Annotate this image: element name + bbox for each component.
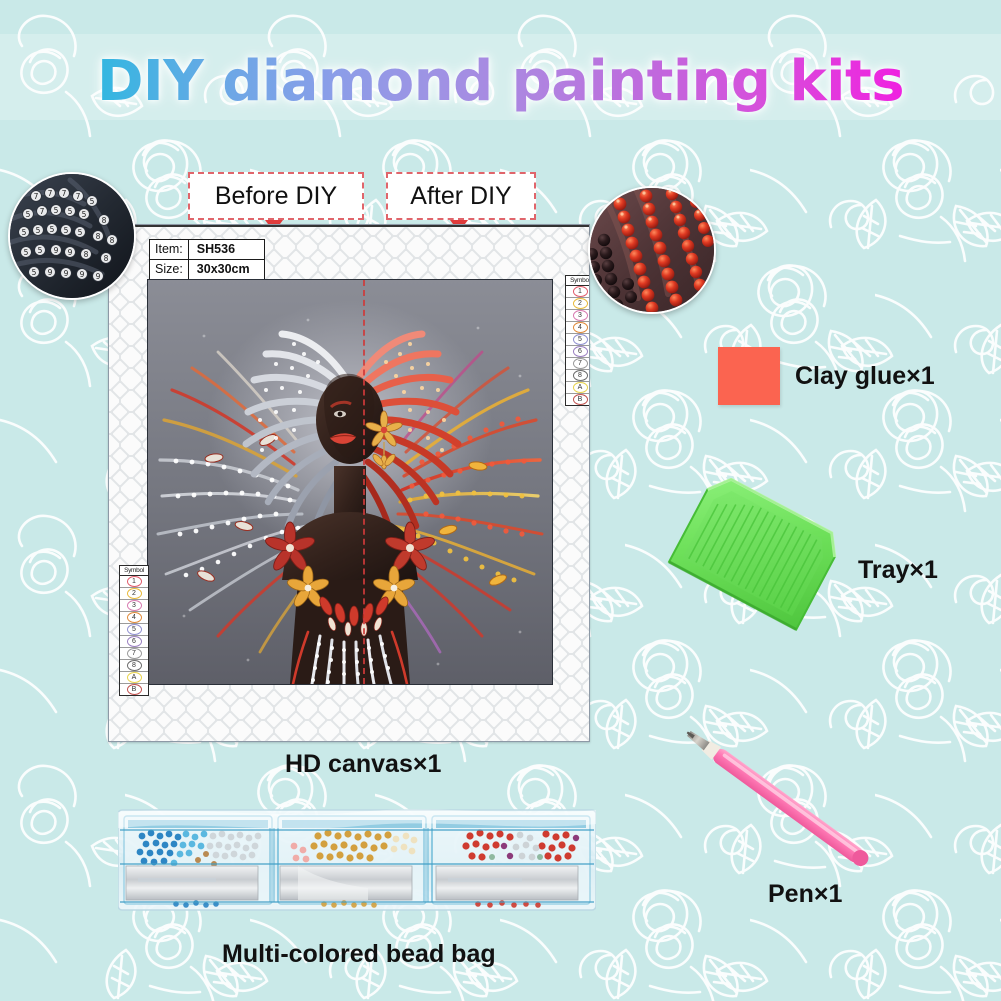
legend-symbol: 7 bbox=[127, 648, 142, 659]
legend-row: A bbox=[566, 382, 590, 394]
svg-text:7: 7 bbox=[62, 189, 67, 198]
legend-symbol: 5 bbox=[573, 334, 588, 345]
legend-symbol: B bbox=[573, 394, 588, 405]
legend-row: 3 bbox=[566, 310, 590, 322]
symbol-legend-right: Symbol 12345678AB bbox=[565, 275, 590, 406]
tray-illustration bbox=[660, 478, 840, 648]
size-value: 30x30cm bbox=[188, 259, 264, 279]
svg-text:9: 9 bbox=[48, 268, 53, 277]
svg-text:5: 5 bbox=[90, 197, 95, 206]
legend-row: 8 bbox=[120, 660, 148, 672]
legend-row: A bbox=[120, 672, 148, 684]
legend-row: 1 bbox=[566, 286, 590, 298]
legend-symbol: 6 bbox=[127, 636, 142, 647]
canvas-sheet: Item: SH536 Size: 30x30cm bbox=[108, 224, 590, 742]
legend-rows-right: 12345678AB bbox=[566, 286, 590, 405]
svg-text:5: 5 bbox=[26, 210, 31, 219]
applied-bead-closeup bbox=[590, 188, 714, 312]
printed-symbol-closeup: 7 7 7 7 5 5 7 5 5 5 8 5 5 5 5 5 8 bbox=[10, 174, 134, 298]
svg-text:8: 8 bbox=[96, 232, 101, 241]
svg-text:5: 5 bbox=[36, 226, 41, 235]
svg-text:9: 9 bbox=[68, 248, 73, 257]
svg-text:8: 8 bbox=[102, 216, 107, 225]
product-info-table: Item: SH536 Size: 30x30cm bbox=[149, 239, 265, 280]
legend-row: 2 bbox=[120, 588, 148, 600]
svg-text:8: 8 bbox=[110, 236, 115, 245]
legend-row: 7 bbox=[566, 358, 590, 370]
svg-text:9: 9 bbox=[64, 269, 69, 278]
caption-hd-canvas: HD canvas×1 bbox=[285, 750, 441, 779]
magnifier-after-closeup bbox=[588, 186, 716, 314]
item-value: SH536 bbox=[188, 240, 264, 260]
symbol-legend-left: Symbol 12345678AB bbox=[119, 565, 149, 696]
caption-bead-bag: Multi-colored bead bag bbox=[222, 940, 496, 969]
bead-bags-illustration bbox=[118, 806, 596, 926]
label-after-diy: After DIY bbox=[386, 172, 536, 220]
svg-text:9: 9 bbox=[80, 270, 85, 279]
legend-row: 6 bbox=[566, 346, 590, 358]
svg-text:5: 5 bbox=[78, 228, 83, 237]
legend-symbol: A bbox=[127, 672, 142, 683]
svg-text:5: 5 bbox=[24, 248, 29, 257]
svg-text:7: 7 bbox=[76, 192, 81, 201]
svg-text:7: 7 bbox=[48, 189, 53, 198]
legend-row: 8 bbox=[566, 370, 590, 382]
artwork-illustration bbox=[148, 280, 552, 684]
svg-text:5: 5 bbox=[32, 268, 37, 277]
item-key: Item: bbox=[150, 240, 189, 260]
legend-header: Symbol bbox=[120, 566, 148, 576]
legend-row: 1 bbox=[120, 576, 148, 588]
svg-text:5: 5 bbox=[38, 246, 43, 255]
legend-symbol: 3 bbox=[573, 310, 588, 321]
legend-symbol: 1 bbox=[573, 286, 588, 297]
legend-rows-left: 12345678AB bbox=[120, 576, 148, 695]
legend-row: 4 bbox=[120, 612, 148, 624]
legend-row: B bbox=[566, 394, 590, 405]
svg-text:5: 5 bbox=[50, 225, 55, 234]
svg-text:5: 5 bbox=[54, 206, 59, 215]
artwork-preview bbox=[147, 279, 553, 685]
legend-row: 5 bbox=[120, 624, 148, 636]
svg-text:7: 7 bbox=[40, 207, 45, 216]
legend-row: 6 bbox=[120, 636, 148, 648]
legend-row: 7 bbox=[120, 648, 148, 660]
infographic-canvas: DIY diamond painting kits Before DIY Aft… bbox=[0, 0, 1001, 1001]
page-title: DIY diamond painting kits bbox=[0, 46, 1001, 118]
legend-symbol: 7 bbox=[573, 358, 588, 369]
table-row: Size: 30x30cm bbox=[150, 259, 265, 279]
legend-symbol: 4 bbox=[127, 612, 142, 623]
svg-text:5: 5 bbox=[22, 228, 27, 237]
legend-symbol: 3 bbox=[127, 600, 142, 611]
bead-bags-item bbox=[118, 806, 596, 926]
svg-text:5: 5 bbox=[82, 210, 87, 219]
legend-symbol: 8 bbox=[573, 370, 588, 381]
legend-row: 2 bbox=[566, 298, 590, 310]
magnifier-before-closeup: 7 7 7 7 5 5 7 5 5 5 8 5 5 5 5 5 8 bbox=[8, 172, 136, 300]
sheet-top-rule bbox=[109, 225, 589, 227]
svg-text:8: 8 bbox=[84, 250, 89, 259]
legend-symbol: 2 bbox=[573, 298, 588, 309]
legend-symbol: 4 bbox=[573, 322, 588, 333]
legend-symbol: 1 bbox=[127, 576, 142, 587]
svg-text:5: 5 bbox=[68, 207, 73, 216]
clay-glue-item bbox=[718, 347, 780, 405]
legend-header: Symbol bbox=[566, 276, 590, 286]
caption-tray: Tray×1 bbox=[858, 556, 938, 585]
svg-text:9: 9 bbox=[54, 246, 59, 255]
legend-row: 4 bbox=[566, 322, 590, 334]
legend-row: B bbox=[120, 684, 148, 695]
label-before-diy: Before DIY bbox=[188, 172, 364, 220]
size-key: Size: bbox=[150, 259, 189, 279]
caption-clay-glue: Clay glue×1 bbox=[795, 362, 935, 391]
legend-symbol: 6 bbox=[573, 346, 588, 357]
legend-row: 5 bbox=[566, 334, 590, 346]
before-after-divider bbox=[363, 280, 365, 684]
tray-item bbox=[660, 478, 840, 648]
legend-row: 3 bbox=[120, 600, 148, 612]
legend-symbol: A bbox=[573, 382, 588, 393]
svg-text:7: 7 bbox=[34, 192, 39, 201]
table-row: Item: SH536 bbox=[150, 240, 265, 260]
legend-symbol: 2 bbox=[127, 588, 142, 599]
legend-symbol: B bbox=[127, 684, 142, 695]
svg-text:9: 9 bbox=[96, 272, 101, 281]
pen-item bbox=[660, 700, 910, 915]
svg-text:5: 5 bbox=[64, 226, 69, 235]
pen-illustration bbox=[660, 700, 910, 915]
legend-symbol: 5 bbox=[127, 624, 142, 635]
svg-text:8: 8 bbox=[104, 254, 109, 263]
legend-symbol: 8 bbox=[127, 660, 142, 671]
